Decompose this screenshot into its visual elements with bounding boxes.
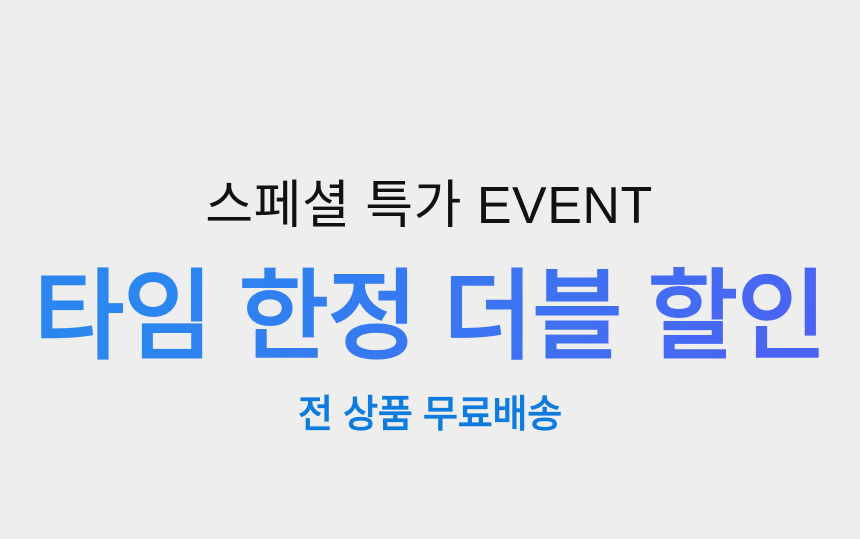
subtitle-text: 전 상품 무료배송 [298, 393, 562, 439]
banner-text-stack: 스페셜 특가 EVENT 타임 한정 더블 할인 전 상품 무료배송 [0, 0, 860, 439]
promo-banner: 스페셜 특가 EVENT 타임 한정 더블 할인 전 상품 무료배송 [0, 0, 860, 539]
headline-text: 타임 한정 더블 할인 [34, 267, 826, 365]
eyebrow-text: 스페셜 특가 EVENT [205, 176, 652, 237]
